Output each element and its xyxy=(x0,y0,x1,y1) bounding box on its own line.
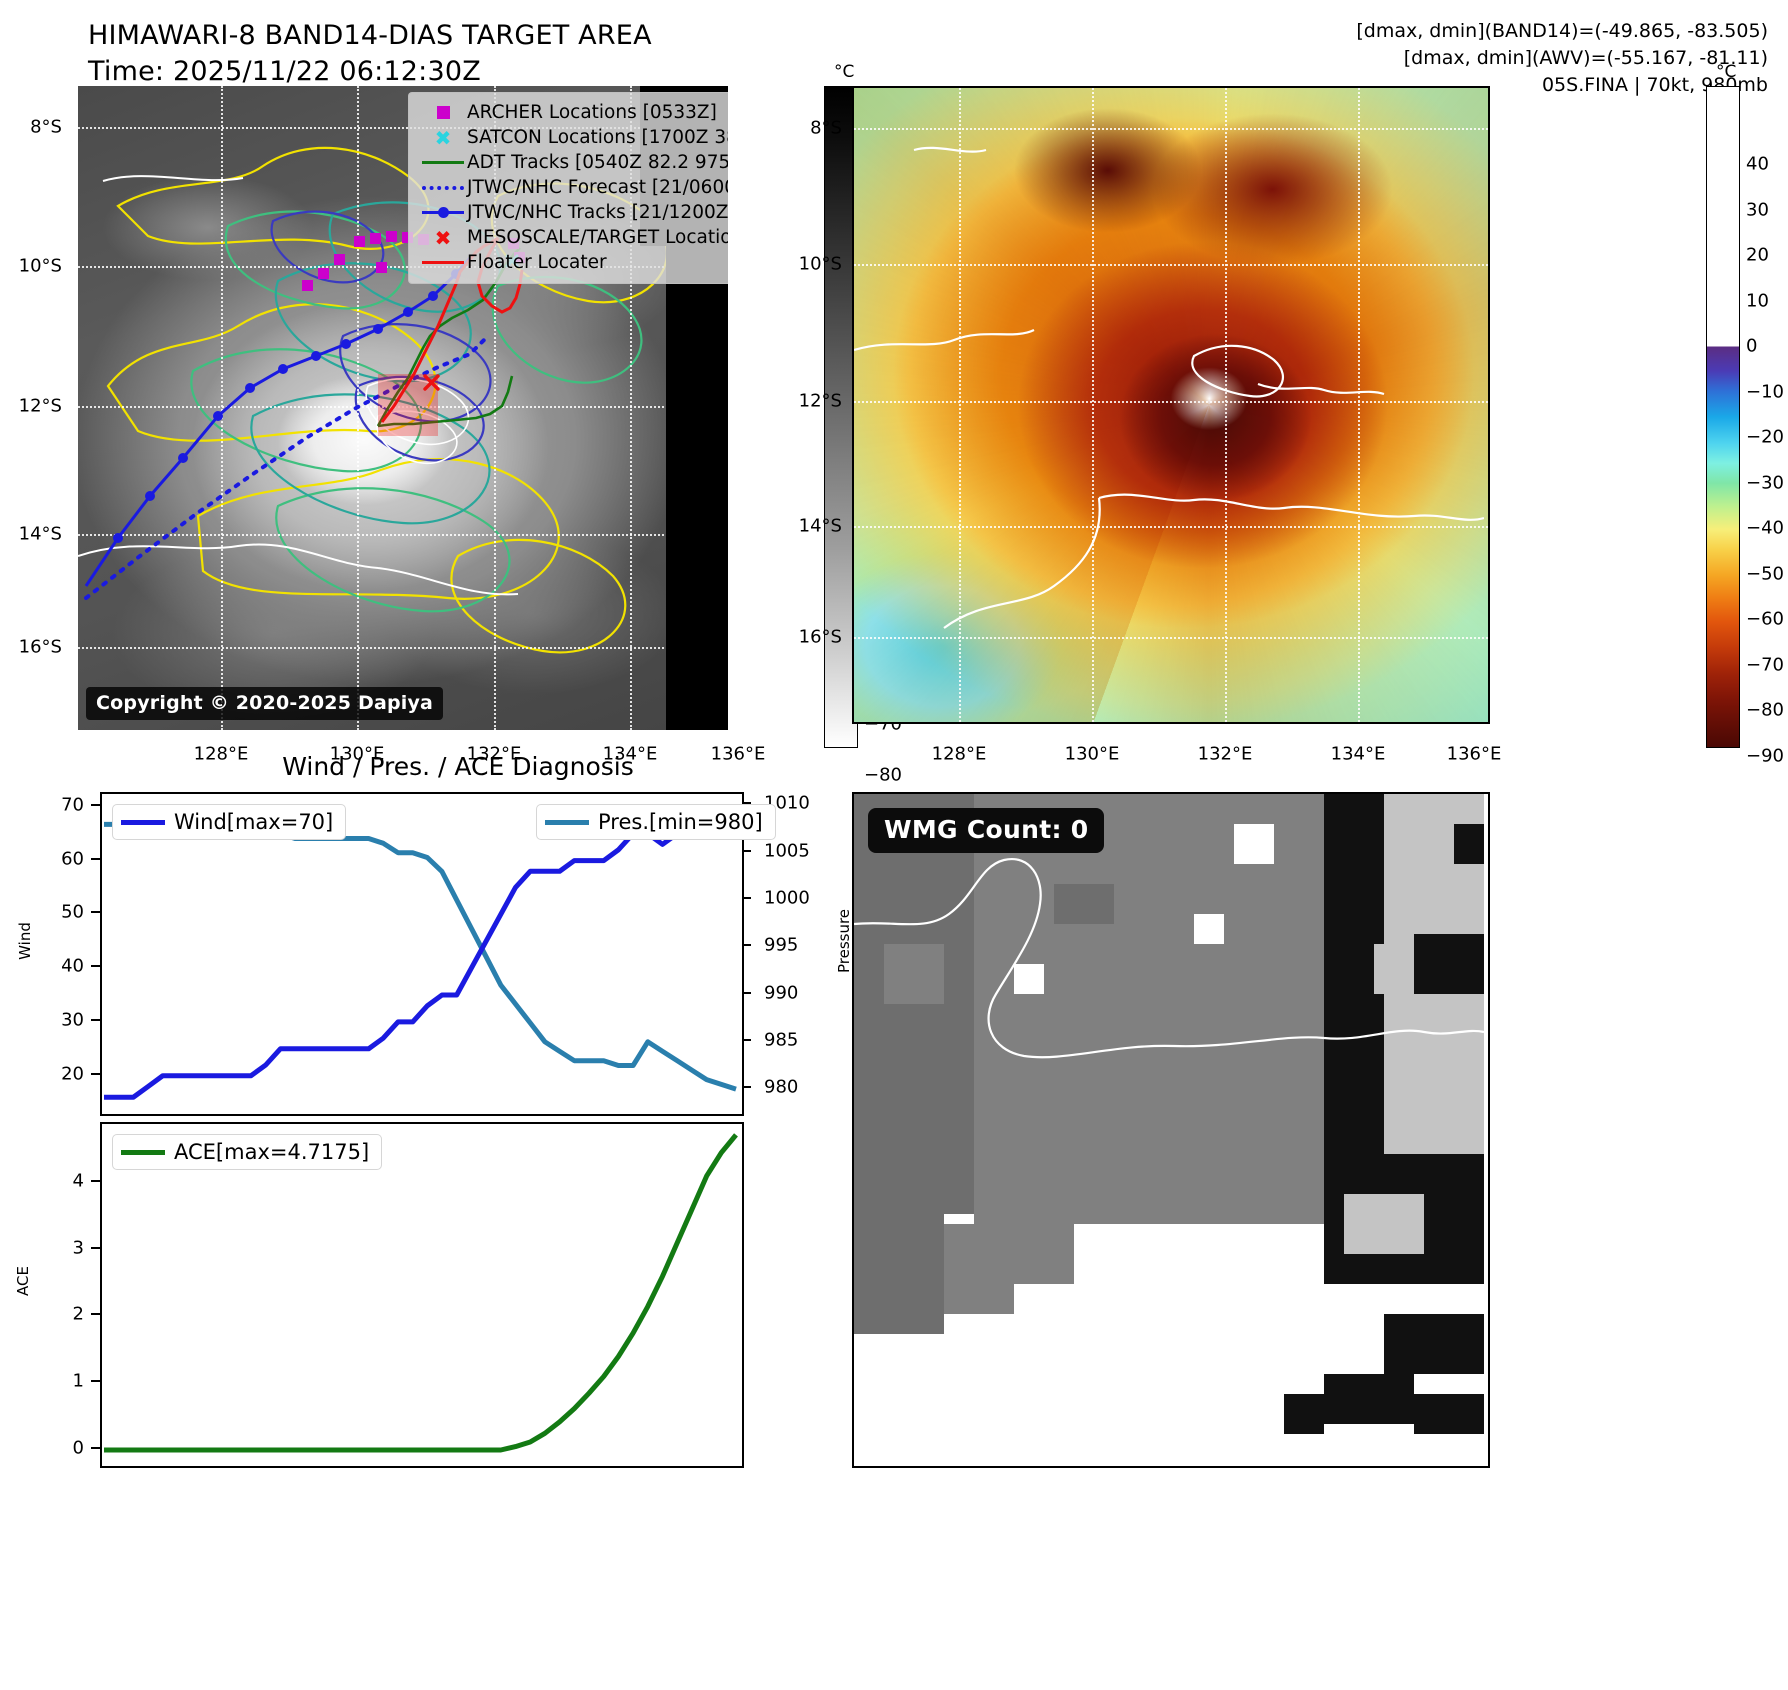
pres-tick-1000: 1000 xyxy=(764,888,810,909)
cb-b-tick-m40: −40 xyxy=(1746,518,1784,539)
archer-square-icon xyxy=(419,106,467,119)
lon-b-tick-136e: 136°E xyxy=(1447,744,1502,765)
legend-label-archer: ARCHER Locations [0533Z] xyxy=(467,102,717,123)
legend-item-floater[interactable]: Floater Locater xyxy=(419,250,728,275)
wind-tickmark-40 xyxy=(91,965,100,967)
mesoscale-x-icon: ✖ xyxy=(419,228,467,248)
wind-tick-40: 40 xyxy=(38,956,84,977)
wind-tick-20: 20 xyxy=(38,1063,84,1084)
pres-tickmark-985 xyxy=(742,1039,751,1041)
pres-tick-1005: 1005 xyxy=(764,840,810,861)
legend-label-floater: Floater Locater xyxy=(467,252,607,273)
tracks-line-point-icon xyxy=(419,211,467,214)
wind-tickmark-70 xyxy=(91,804,100,806)
pressure-axis-label: Pressure xyxy=(835,909,853,973)
legend-label-jtwc-tracks: JTWC/NHC Tracks [21/1200Z] xyxy=(467,202,728,223)
wind-pressure-chart[interactable] xyxy=(100,792,744,1116)
coastlines-enhanced xyxy=(854,88,1484,718)
wmg-gray-cells xyxy=(854,794,1484,1434)
floater-line-icon xyxy=(419,261,467,264)
wind-tickmark-20 xyxy=(91,1073,100,1075)
wmg-mask-grid xyxy=(854,794,1484,1462)
legend-label-mesoscale: MESOSCALE/TARGET Location xyxy=(467,227,728,248)
cb-b-tick-m20: −20 xyxy=(1746,427,1784,448)
lat-b-tick-16s: 16°S xyxy=(782,627,842,648)
lat-b-tick-14s: 14°S xyxy=(782,516,842,537)
wind-tickmark-30 xyxy=(91,1019,100,1021)
wind-tick-70: 70 xyxy=(38,794,84,815)
ace-legend[interactable]: ACE[max=4.7175] xyxy=(112,1134,382,1170)
lat-tick-12s: 12°S xyxy=(2,396,62,417)
pres-tickmark-995 xyxy=(742,944,751,946)
lat-b-tick-8s: 8°S xyxy=(782,118,842,139)
cb-b-tick-m50: −50 xyxy=(1746,564,1784,585)
ace-plot xyxy=(102,1124,738,1462)
lat-tick-8s: 8°S xyxy=(2,117,62,138)
wind-tickmark-50 xyxy=(91,911,100,913)
legend-item-archer[interactable]: ARCHER Locations [0533Z] xyxy=(419,100,728,125)
lon-axis-bottom-b: 128°E 130°E 132°E 134°E 136°E xyxy=(852,740,1486,770)
wind-pressure-plot xyxy=(102,794,738,1110)
gridline-b-lat-8s xyxy=(854,128,1488,130)
colorbar-unit-a: °C xyxy=(834,62,854,82)
cb-b-tick-m90: −90 xyxy=(1746,746,1784,767)
forecast-dotted-line-icon xyxy=(419,186,467,190)
legend-item-satcon[interactable]: ✖ SATCON Locations [1700Z 38 1000] xyxy=(419,125,728,150)
lat-b-tick-10s: 10°S xyxy=(782,254,842,275)
wind-legend-label: Wind[max=70] xyxy=(174,810,333,834)
gridline-b-lat-12s xyxy=(854,401,1488,403)
wind-legend-swatch-icon xyxy=(121,820,165,825)
ace-tick-0: 0 xyxy=(38,1437,84,1458)
cb-b-tick-m10: −10 xyxy=(1746,382,1784,403)
ace-tickmark-3 xyxy=(91,1247,100,1249)
copyright-notice: Copyright © 2020-2025 Dapiya xyxy=(86,687,443,720)
lon-b-tick-128e: 128°E xyxy=(932,744,987,765)
grayscale-ir-panel[interactable]: ARCHER Locations [0533Z] ✖ SATCON Locati… xyxy=(78,86,728,730)
gridline-b-lat-16s xyxy=(854,637,1488,639)
wind-y-axis: Wind 70 60 50 40 30 20 xyxy=(20,792,100,1112)
legend-label-adt: ADT Tracks [0540Z 82.2 975.3] xyxy=(467,152,728,173)
ace-y-axis: ACE 4 3 2 1 0 xyxy=(20,1122,100,1464)
colorbar-unit-b: °C xyxy=(1716,62,1736,82)
wind-axis-label: Wind xyxy=(16,922,34,960)
lat-b-tick-12s: 12°S xyxy=(782,391,842,412)
ace-tickmark-1 xyxy=(91,1380,100,1382)
ace-tick-2: 2 xyxy=(38,1304,84,1325)
cb-b-tick-30: 30 xyxy=(1746,200,1769,221)
wind-tick-60: 60 xyxy=(38,848,84,869)
pres-tickmark-1005 xyxy=(742,850,751,852)
wmg-count-badge: WMG Count: 0 xyxy=(868,808,1104,853)
pres-tick-995: 995 xyxy=(764,935,798,956)
cb-b-tick-10: 10 xyxy=(1746,291,1769,312)
chart-title: Wind / Pres. / ACE Diagnosis xyxy=(78,752,838,781)
gridline-b-lat-10s xyxy=(854,264,1488,266)
pressure-y-axis: Pressure 1010 1005 1000 995 990 985 980 xyxy=(740,792,850,1112)
page-title: HIMAWARI-8 BAND14-DIAS TARGET AREA Time:… xyxy=(88,18,888,89)
lon-b-tick-134e: 134°E xyxy=(1331,744,1386,765)
gridline-b-lat-14s xyxy=(854,526,1488,528)
legend-item-mesoscale[interactable]: ✖ MESOSCALE/TARGET Location xyxy=(419,225,728,250)
title-line-2: Time: 2025/11/22 06:12:30Z xyxy=(88,54,888,90)
ace-tickmark-0 xyxy=(91,1447,100,1449)
cb-b-tick-0: 0 xyxy=(1746,336,1757,357)
lon-b-tick-132e: 132°E xyxy=(1198,744,1253,765)
pres-tickmark-1000 xyxy=(742,897,751,899)
ace-tickmark-2 xyxy=(91,1313,100,1315)
enhanced-ir-panel[interactable] xyxy=(852,86,1490,724)
map-legend: ARCHER Locations [0533Z] ✖ SATCON Locati… xyxy=(408,92,728,284)
dmax-awv-text: [dmax, dmin](AWV)=(-55.167, -81.11) xyxy=(1356,45,1768,72)
pres-tick-990: 990 xyxy=(764,982,798,1003)
pres-tickmark-980 xyxy=(742,1086,751,1088)
ace-legend-swatch-icon xyxy=(121,1150,165,1155)
ace-chart[interactable] xyxy=(100,1122,744,1468)
legend-item-jtwc-forecast[interactable]: JTWC/NHC Forecast [21/0600Z] xyxy=(419,175,728,200)
cb-b-tick-m60: −60 xyxy=(1746,609,1784,630)
ace-tick-3: 3 xyxy=(38,1237,84,1258)
ace-tick-1: 1 xyxy=(38,1371,84,1392)
legend-label-satcon: SATCON Locations [1700Z 38 1000] xyxy=(467,127,728,148)
cb-b-tick-m30: −30 xyxy=(1746,473,1784,494)
gridline-b-lon-128e xyxy=(959,88,961,722)
legend-item-adt[interactable]: ADT Tracks [0540Z 82.2 975.3] xyxy=(419,150,728,175)
pres-tickmark-990 xyxy=(742,992,751,994)
satcon-x-icon: ✖ xyxy=(419,128,467,148)
wmg-panel[interactable]: WMG Count: 0 xyxy=(852,792,1490,1468)
gridline-b-lon-130e xyxy=(1092,88,1094,722)
colorbar-gradient-b xyxy=(1706,86,1740,748)
ace-tick-4: 4 xyxy=(38,1170,84,1191)
pres-tick-985: 985 xyxy=(764,1029,798,1050)
wind-tickmark-60 xyxy=(91,858,100,860)
lat-tick-10s: 10°S xyxy=(2,256,62,277)
legend-item-jtwc-tracks[interactable]: JTWC/NHC Tracks [21/1200Z] xyxy=(419,200,728,225)
lon-b-tick-130e: 130°E xyxy=(1065,744,1120,765)
ace-legend-label: ACE[max=4.7175] xyxy=(174,1140,369,1164)
ace-axis-label: ACE xyxy=(14,1266,32,1296)
wind-tick-50: 50 xyxy=(38,902,84,923)
colorbar-ticks-b: 40 30 20 10 0 −10 −20 −30 −40 −50 −60 −7… xyxy=(1746,86,1788,746)
pres-tick-980: 980 xyxy=(764,1077,798,1098)
ace-tickmark-4 xyxy=(91,1180,100,1182)
cb-b-tick-m80: −80 xyxy=(1746,700,1784,721)
pressure-legend[interactable]: Pres.[min=980] xyxy=(536,804,776,840)
dmax-band14-text: [dmax, dmin](BAND14)=(-49.865, -83.505) xyxy=(1356,18,1768,45)
adt-line-icon xyxy=(419,161,467,164)
lat-tick-16s: 16°S xyxy=(2,637,62,658)
gridline-b-lon-134e xyxy=(1358,88,1360,722)
gridline-b-lon-132e xyxy=(1225,88,1227,722)
lat-tick-14s: 14°S xyxy=(2,524,62,545)
legend-label-jtwc-forecast: JTWC/NHC Forecast [21/0600Z] xyxy=(467,177,728,198)
cb-b-tick-m70: −70 xyxy=(1746,655,1784,676)
pressure-legend-label: Pres.[min=980] xyxy=(598,810,763,834)
cb-b-tick-20: 20 xyxy=(1746,245,1769,266)
pressure-legend-swatch-icon xyxy=(545,820,589,825)
title-line-1: HIMAWARI-8 BAND14-DIAS TARGET AREA xyxy=(88,18,888,54)
wind-tick-30: 30 xyxy=(38,1009,84,1030)
wind-legend[interactable]: Wind[max=70] xyxy=(112,804,346,840)
cb-b-tick-40: 40 xyxy=(1746,154,1769,175)
